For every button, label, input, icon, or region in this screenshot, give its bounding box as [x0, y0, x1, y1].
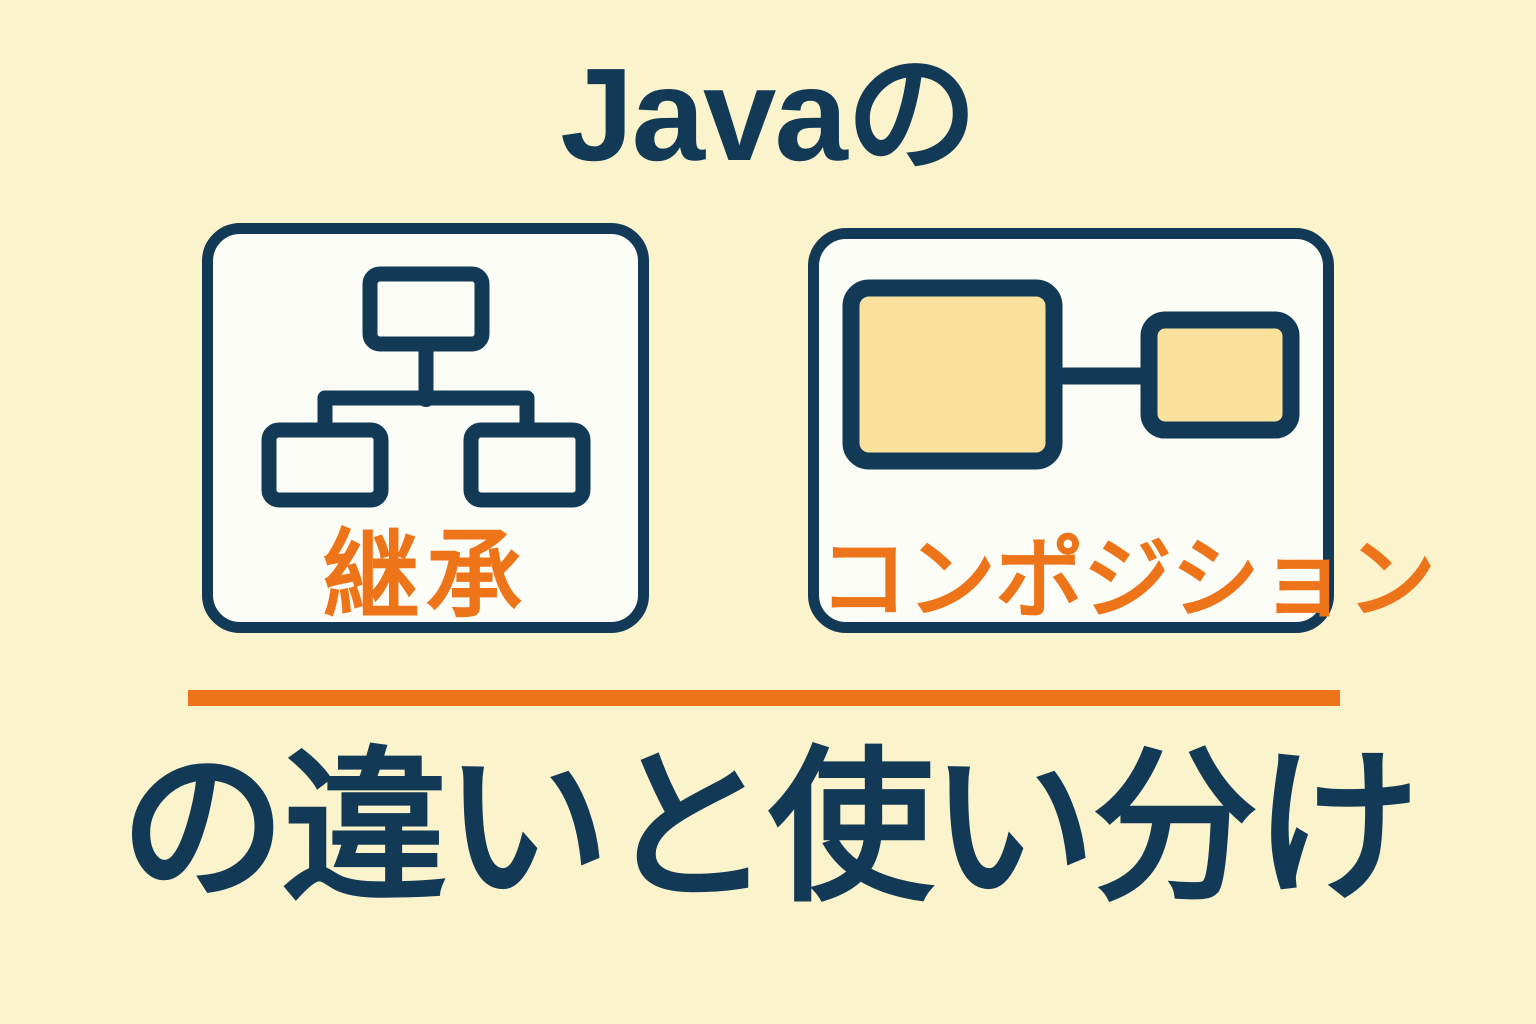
card-label-composition: コンポジション: [819, 507, 1323, 636]
orange-divider: [188, 690, 1340, 706]
card-inheritance[interactable]: 継承: [202, 223, 649, 633]
card-label-inheritance: 継承: [213, 496, 638, 637]
composition-owner-box: [851, 288, 1054, 461]
composition-part-box: [1149, 320, 1291, 430]
poster-canvas: Javaの 継承: [0, 0, 1536, 1024]
card-composition[interactable]: コンポジション: [808, 228, 1334, 633]
page-subtitle-bottom: の違いと使い分け: [0, 742, 1536, 916]
page-title-top: Javaの: [0, 46, 1536, 185]
tree-junction-dot: [417, 389, 435, 407]
